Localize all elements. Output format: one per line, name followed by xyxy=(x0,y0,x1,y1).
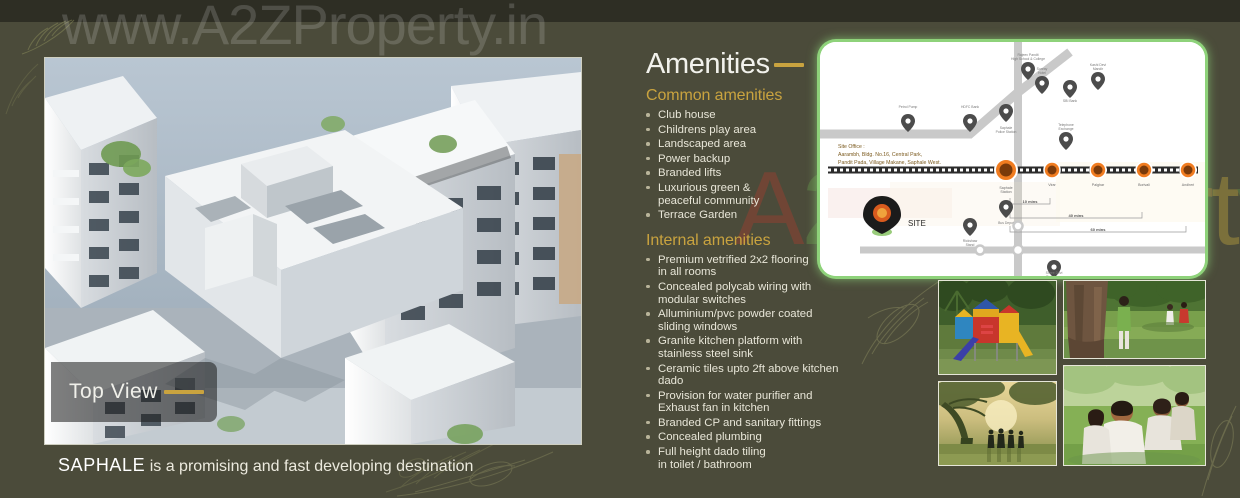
poi-label-bus-depot: Bus Depot xyxy=(998,221,1014,225)
poi-label-residency-2: Residency xyxy=(1046,275,1062,276)
station-label-3: Borivali xyxy=(1138,183,1150,187)
internal-amenity-item-4: Ceramic tiles upto 2ft above kitchen dad… xyxy=(646,363,861,388)
watermark-char-9: t xyxy=(1211,150,1237,269)
station-label-4: Andheri xyxy=(1182,183,1195,187)
poi-label-mandir-2: Mandir xyxy=(1093,67,1104,71)
leaf-decoration-gallery-left xyxy=(858,276,944,368)
internal-amenity-item-6: Branded CP and sanitary fittings xyxy=(646,417,861,430)
top-view-render-frame: Top View xyxy=(44,57,582,445)
internal-amenities-list: Premium vetrified 2x2 flooringin all roo… xyxy=(646,254,861,472)
poi-label-telephone-2: Exchange xyxy=(1058,127,1073,131)
internal-amenity-item-8: Full height dado tilingin toilet / bathr… xyxy=(646,446,861,471)
amenities-heading-text: Amenities xyxy=(646,48,770,80)
caption-strong: SAPHALE xyxy=(58,455,145,475)
internal-amenity-item-2: Alluminium/pvc powder coatedsliding wind… xyxy=(646,308,861,333)
caption-rest: is a promising and fast developing desti… xyxy=(145,458,473,475)
internal-amenity-item-7: Concealed plumbing xyxy=(646,431,861,444)
playground-photo xyxy=(938,280,1057,375)
poi-label-sbi-bank: SBI Bank xyxy=(1063,99,1077,103)
poi-label-school-2: High School & College xyxy=(1011,57,1045,61)
misty-park-photo xyxy=(938,381,1057,466)
internal-amenity-item-3: Granite kitchen platform withstainless s… xyxy=(646,335,861,360)
saphale-caption: SAPHALE is a promising and fast developi… xyxy=(58,455,473,476)
distance-label-1: 40 mins xyxy=(1069,213,1085,218)
station-label-0b: Station xyxy=(1000,190,1011,194)
top-view-badge: Top View xyxy=(51,362,217,422)
site-office-line1: Aarambh, Bldg. No.16, Central Park, xyxy=(838,152,922,158)
distance-label-2: 60 mins xyxy=(1091,227,1107,232)
family-photo xyxy=(1063,365,1206,466)
poi-label-rickshaw-2: Stand xyxy=(966,243,975,247)
poi-label-police-2: Police Station xyxy=(996,130,1017,134)
poi-label-hdfc-bank: HDFC Bank xyxy=(961,105,979,109)
internal-amenity-item-5: Provision for water purifier andExhaust … xyxy=(646,390,861,415)
top-view-label: Top View xyxy=(69,380,158,404)
site-office-label: Site Office : xyxy=(838,144,865,150)
site-office-line2: Pandit Pada, Village Makane, Saphale Wes… xyxy=(838,160,941,166)
location-map-card[interactable]: Saphale Station Virar Palghar Borivali A… xyxy=(820,42,1205,276)
station-label-1: Virar xyxy=(1048,183,1056,187)
photo-gallery xyxy=(938,280,1206,466)
site-marker-label: SITE xyxy=(908,219,926,228)
leaf-decoration-left-mid xyxy=(2,58,46,118)
gold-dash-accent-heading xyxy=(774,63,804,67)
distance-label-0: 10 mins xyxy=(1023,199,1039,204)
station-label-2: Palghar xyxy=(1092,183,1105,187)
top-dark-strip xyxy=(0,0,1240,22)
park-tree-photo xyxy=(1063,280,1206,359)
brochure-page: A2ZProperty xyxy=(0,0,1240,498)
gold-dash-accent xyxy=(164,390,204,394)
internal-amenity-item-1: Concealed polycab wiring withmodular swi… xyxy=(646,281,861,306)
poi-label-sunray-2: Hotel xyxy=(1038,71,1046,75)
poi-label-petrol-pump: Petrol Pump xyxy=(899,105,918,109)
location-map[interactable]: Saphale Station Virar Palghar Borivali A… xyxy=(820,42,1205,276)
